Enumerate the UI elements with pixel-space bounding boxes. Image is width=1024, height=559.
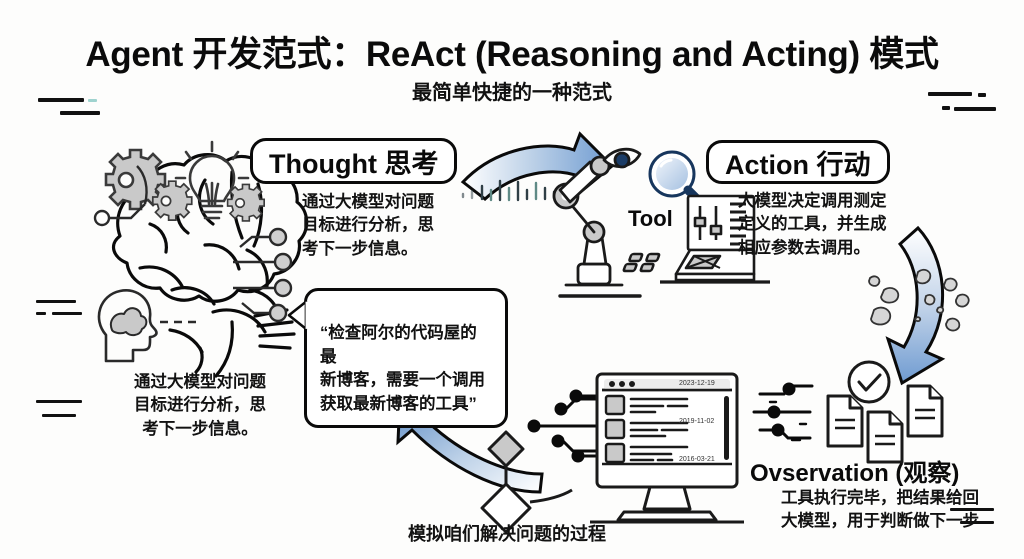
brain-output-nodes-icon [233,229,291,321]
thought-quote-bubble-tail [285,300,315,334]
decor-dashes-top-left [38,98,100,115]
gear-icon [106,150,264,221]
monitor-date-1: 2019-11-02 [679,418,714,425]
circuit-trace-icon-left [529,391,598,461]
thought-quote-text: “检查阿尔的代码屋的最 新博客，需要一个调用 获取最新博客的工具” [320,324,485,412]
thought-to-action-arrow [463,134,612,199]
thought-body-text: 通过大模型对问题 目标进行分析，思 考下一步信息。 [302,191,502,261]
action-pill-label: Action 行动 [725,143,871,182]
check-circle-icon [849,362,889,402]
monitor-date-0: 2023-12-19 [679,380,715,387]
thought-pill: Thought 思考 [250,138,457,184]
circuit-node-icon [95,166,147,225]
monitor-icon [590,374,744,522]
diamond-node-icon [482,432,572,532]
pebble-decor [869,270,969,331]
observation-body-text: 工具执行完毕，把结果给回 大模型，用于判断做下一步 [744,487,1016,534]
thought-quote-bubble: “检查阿尔的代码屋的最 新博客，需要一个调用 获取最新博客的工具” [304,288,508,428]
magnifier-icon [650,152,702,204]
thought-caption-text: 通过大模型对问题 目标进行分析，思 考下一步信息。 [100,371,300,441]
action-body-text: 大模型决定调用测定 定义的工具，并生成 相应参数去调用。 [738,190,948,260]
document-icon [828,386,942,462]
circuit-trace-icon-right [754,384,812,440]
footer-caption: 模拟咱们解决问题的过程 [332,522,682,548]
infographic-canvas: Agent 开发范式：ReAct (Reasoning and Acting) … [0,0,1024,559]
lightbulb-icon [176,142,248,218]
monitor-date-2: 2016-03-21 [679,456,715,463]
head-profile-icon [99,290,196,361]
brain-icon [114,155,307,376]
decor-dashes-top-right [928,92,996,111]
page-title: Agent 开发范式：ReAct (Reasoning and Acting) … [0,26,1024,77]
thought-pill-label: Thought 思考 [269,142,438,181]
decor-dashes-bottom-left [36,400,82,417]
observation-heading: Ovservation (观察) [750,453,959,488]
decor-dashes-left-mid [36,300,82,315]
page-subtitle: 最简单快捷的一种范式 [0,76,1024,105]
action-pill: Action 行动 [706,140,890,184]
tool-label: Tool [628,206,673,232]
